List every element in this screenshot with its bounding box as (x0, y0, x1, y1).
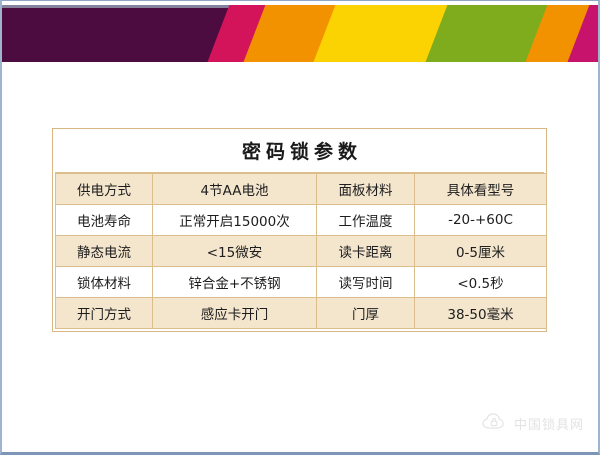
table-row: 锁体材料 锌合金+不锈钢 读写时间 <0.5秒 (56, 267, 547, 298)
row-label-left: 锁体材料 (56, 267, 153, 298)
table-row: 供电方式 4节AA电池 面板材料 具体看型号 (56, 174, 547, 205)
row-value-left: 4节AA电池 (153, 174, 317, 205)
row-label-right: 读卡距离 (317, 236, 415, 267)
slide-body: 密码锁参数 供电方式 4节AA电池 面板材料 具体看型号 电池寿命 正常开启15… (2, 62, 600, 452)
row-value-right: <0.5秒 (415, 267, 547, 298)
header-color-band (2, 5, 600, 62)
row-label-right: 面板材料 (317, 174, 415, 205)
spec-table-title: 密码锁参数 (55, 131, 544, 173)
spec-table-container: 密码锁参数 供电方式 4节AA电池 面板材料 具体看型号 电池寿命 正常开启15… (52, 128, 547, 332)
cloud-lock-icon (482, 412, 508, 434)
row-label-left: 供电方式 (56, 174, 153, 205)
row-value-right: -20-+60C (415, 205, 547, 236)
row-label-left: 电池寿命 (56, 205, 153, 236)
slide-canvas: 密码锁参数 供电方式 4节AA电池 面板材料 具体看型号 电池寿命 正常开启15… (0, 0, 600, 455)
watermark-text: 中国锁具网 (514, 414, 584, 433)
row-value-left: 正常开启15000次 (153, 205, 317, 236)
row-value-right: 0-5厘米 (415, 236, 547, 267)
row-label-right: 工作温度 (317, 205, 415, 236)
row-value-left: 锌合金+不锈钢 (153, 267, 317, 298)
row-value-right: 具体看型号 (415, 174, 547, 205)
table-row: 静态电流 <15微安 读卡距离 0-5厘米 (56, 236, 547, 267)
row-label-left: 开门方式 (56, 298, 153, 329)
row-label-right: 读写时间 (317, 267, 415, 298)
row-value-left: <15微安 (153, 236, 317, 267)
spec-table: 供电方式 4节AA电池 面板材料 具体看型号 电池寿命 正常开启15000次 工… (55, 173, 547, 329)
row-label-left: 静态电流 (56, 236, 153, 267)
row-label-right: 门厚 (317, 298, 415, 329)
row-value-right: 38-50毫米 (415, 298, 547, 329)
watermark: 中国锁具网 (482, 412, 584, 434)
table-row: 电池寿命 正常开启15000次 工作温度 -20-+60C (56, 205, 547, 236)
row-value-left: 感应卡开门 (153, 298, 317, 329)
table-row: 开门方式 感应卡开门 门厚 38-50毫米 (56, 298, 547, 329)
